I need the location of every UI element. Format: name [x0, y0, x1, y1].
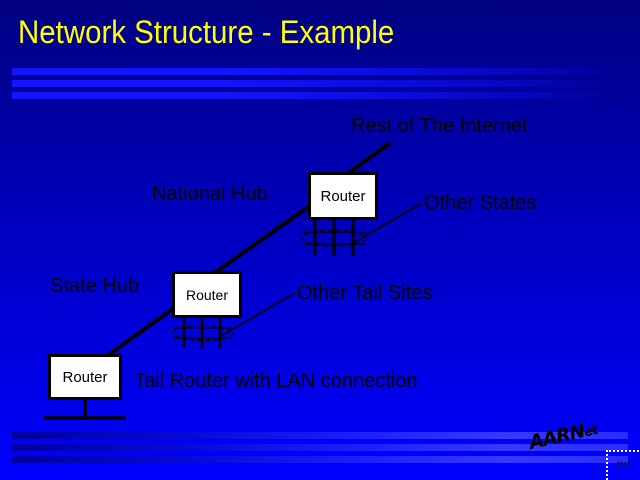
label-other-tail-sites: Other Tail Sites [297, 282, 432, 305]
label-tail-router-with-lan: Tail Router with LAN connection [134, 370, 417, 393]
label-other-states: Other States [424, 192, 536, 215]
link-tail-to-state [104, 305, 178, 358]
router-node-national[interactable]: Router [308, 172, 378, 220]
router-node-state[interactable]: Router [172, 271, 242, 318]
label-state-hub: State Hub [50, 275, 139, 298]
router-node-tail[interactable]: Router [48, 354, 122, 400]
slide-canvas: Network Structure - Example [0, 0, 640, 480]
label-rest-of-internet: Rest of The Internet [351, 115, 527, 138]
page-number: XX [617, 461, 631, 471]
network-diagram [0, 0, 640, 480]
router-label: Router [320, 188, 365, 205]
label-national-hub: National Hub [152, 183, 268, 206]
page-number-placeholder: XX [606, 450, 639, 480]
router-label: Router [62, 369, 107, 386]
router-label: Router [186, 287, 228, 303]
decor-bar [12, 456, 628, 463]
